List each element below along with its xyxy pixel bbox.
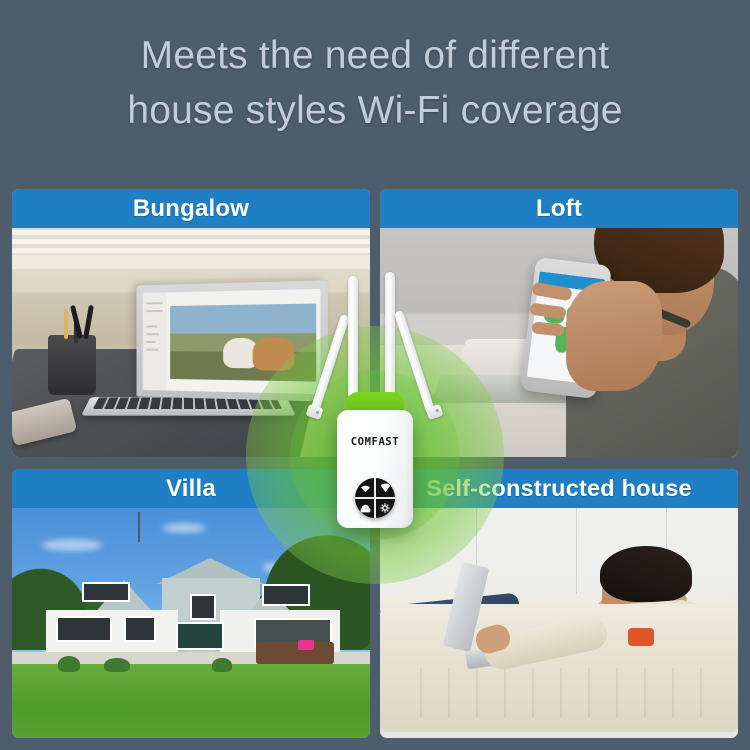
- signal-icon: [375, 478, 395, 498]
- antenna-inner-left: [348, 276, 358, 400]
- panel-villa[interactable]: Villa: [12, 469, 370, 738]
- device-body: COMFAST: [337, 410, 413, 528]
- comfast-brand-logo: COMFAST: [337, 436, 413, 448]
- photo-man-on-sofa: [380, 469, 738, 738]
- settings-icon: [375, 498, 395, 518]
- panel-label-self-constructed-house: Self-constructed house: [380, 469, 738, 508]
- panel-self-constructed-house[interactable]: Self-constructed house: [380, 469, 738, 738]
- photo-villa-house: [12, 469, 370, 738]
- panel-label-loft: Loft: [380, 189, 738, 228]
- antenna-inner-right: [385, 272, 395, 400]
- page-title: Meets the need of different house styles…: [0, 28, 750, 138]
- router-icon: [355, 498, 375, 518]
- wifi-icon: [355, 478, 375, 498]
- device-button-panel[interactable]: [355, 478, 395, 518]
- panel-label-bungalow: Bungalow: [12, 189, 370, 228]
- headline-line-2: house styles Wi-Fi coverage: [0, 83, 750, 138]
- panel-label-villa: Villa: [12, 469, 370, 508]
- headline-line-1: Meets the need of different: [141, 34, 610, 77]
